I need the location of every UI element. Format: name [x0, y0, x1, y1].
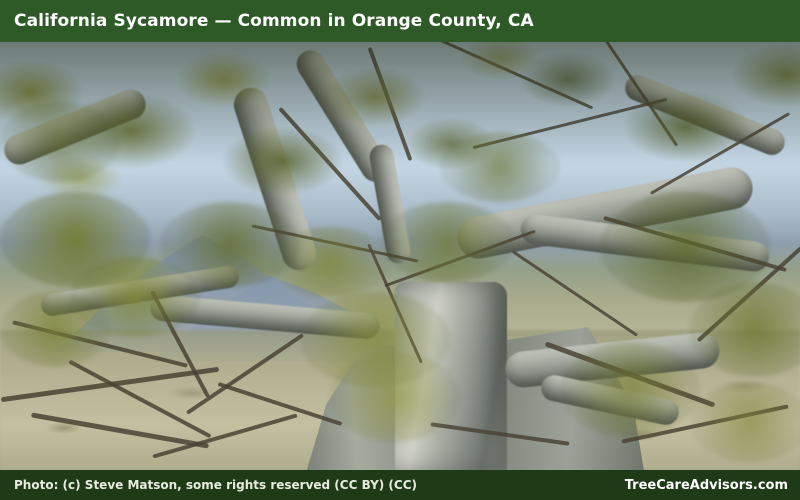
- tree-photograph: [0, 42, 800, 470]
- site-name[interactable]: TreeCareAdvisors.com: [625, 478, 788, 493]
- leaf-cluster: [560, 342, 700, 437]
- leaf-cluster: [0, 102, 120, 182]
- leaf-cluster: [690, 382, 800, 462]
- footer-bar: Photo: (c) Steve Matson, some rights res…: [0, 470, 800, 500]
- foliage-layer: [0, 42, 800, 470]
- page-title: California Sycamore — Common in Orange C…: [14, 11, 534, 31]
- leaf-cluster: [330, 352, 460, 442]
- leaf-cluster: [440, 132, 560, 202]
- leaf-cluster: [0, 292, 110, 367]
- leaf-cluster: [380, 202, 515, 282]
- photo-credit: Photo: (c) Steve Matson, some rights res…: [14, 478, 417, 492]
- leaf-cluster: [270, 227, 390, 297]
- photo-card: California Sycamore — Common in Orange C…: [0, 0, 800, 500]
- canopy-shadow: [0, 42, 800, 162]
- leaf-cluster: [690, 282, 800, 377]
- header-bar: California Sycamore — Common in Orange C…: [0, 0, 800, 42]
